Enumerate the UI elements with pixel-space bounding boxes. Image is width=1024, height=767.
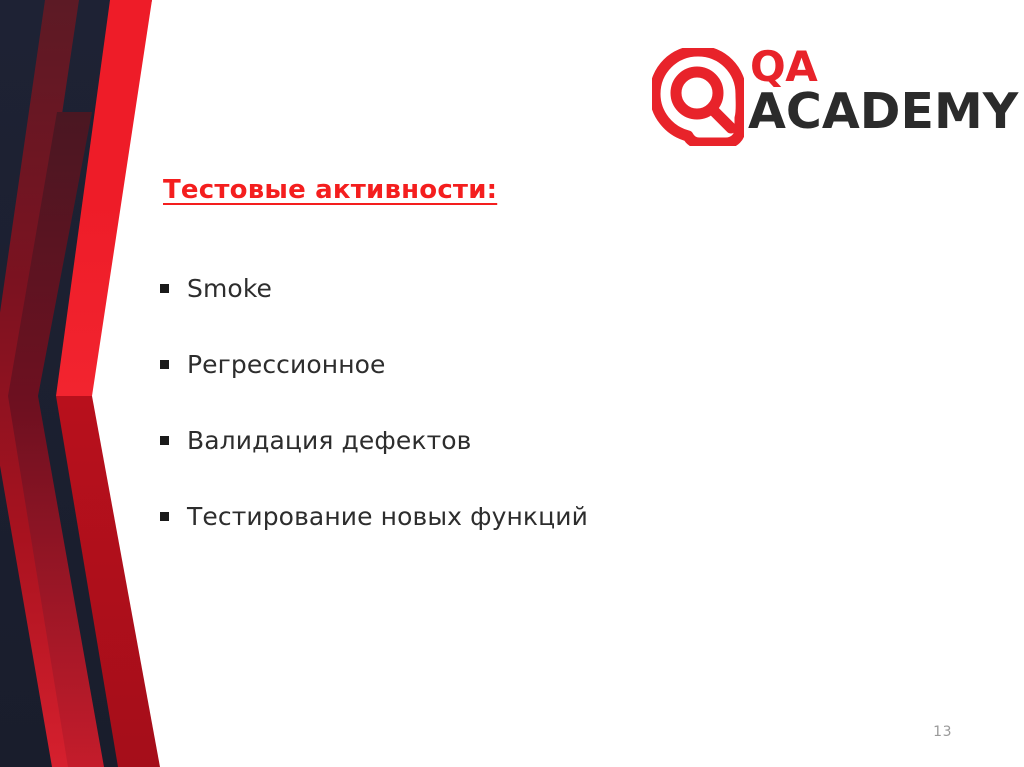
list-item-label: Валидация дефектов <box>187 428 471 453</box>
list-item-label: Smoke <box>187 276 272 301</box>
slide-content: Тестовые активности: Smoke Регрессионное… <box>160 176 900 205</box>
slide-canvas: QA ACADEMY Тестовые активности: Smoke Ре… <box>0 0 1024 767</box>
logo-text-academy: ACADEMY <box>748 87 1018 136</box>
bullet-square-icon <box>160 512 169 521</box>
list-item: Регрессионное <box>160 352 900 428</box>
qa-academy-logo: QA ACADEMY <box>652 46 952 150</box>
bullet-square-icon <box>160 284 169 293</box>
page-number: 13 <box>933 724 952 740</box>
list-item-label: Тестирование новых функций <box>187 504 588 529</box>
bullet-square-icon <box>160 436 169 445</box>
test-activities-list: Smoke Регрессионное Валидация дефектов Т… <box>160 276 900 580</box>
list-item: Валидация дефектов <box>160 428 900 504</box>
list-item: Тестирование новых функций <box>160 504 900 580</box>
list-item: Smoke <box>160 276 900 352</box>
list-item-label: Регрессионное <box>187 352 386 377</box>
logo-text-qa: QA <box>750 46 817 88</box>
qa-academy-q-mark <box>652 48 744 146</box>
page-title: Тестовые активности: <box>163 176 900 205</box>
bullet-square-icon <box>160 360 169 369</box>
